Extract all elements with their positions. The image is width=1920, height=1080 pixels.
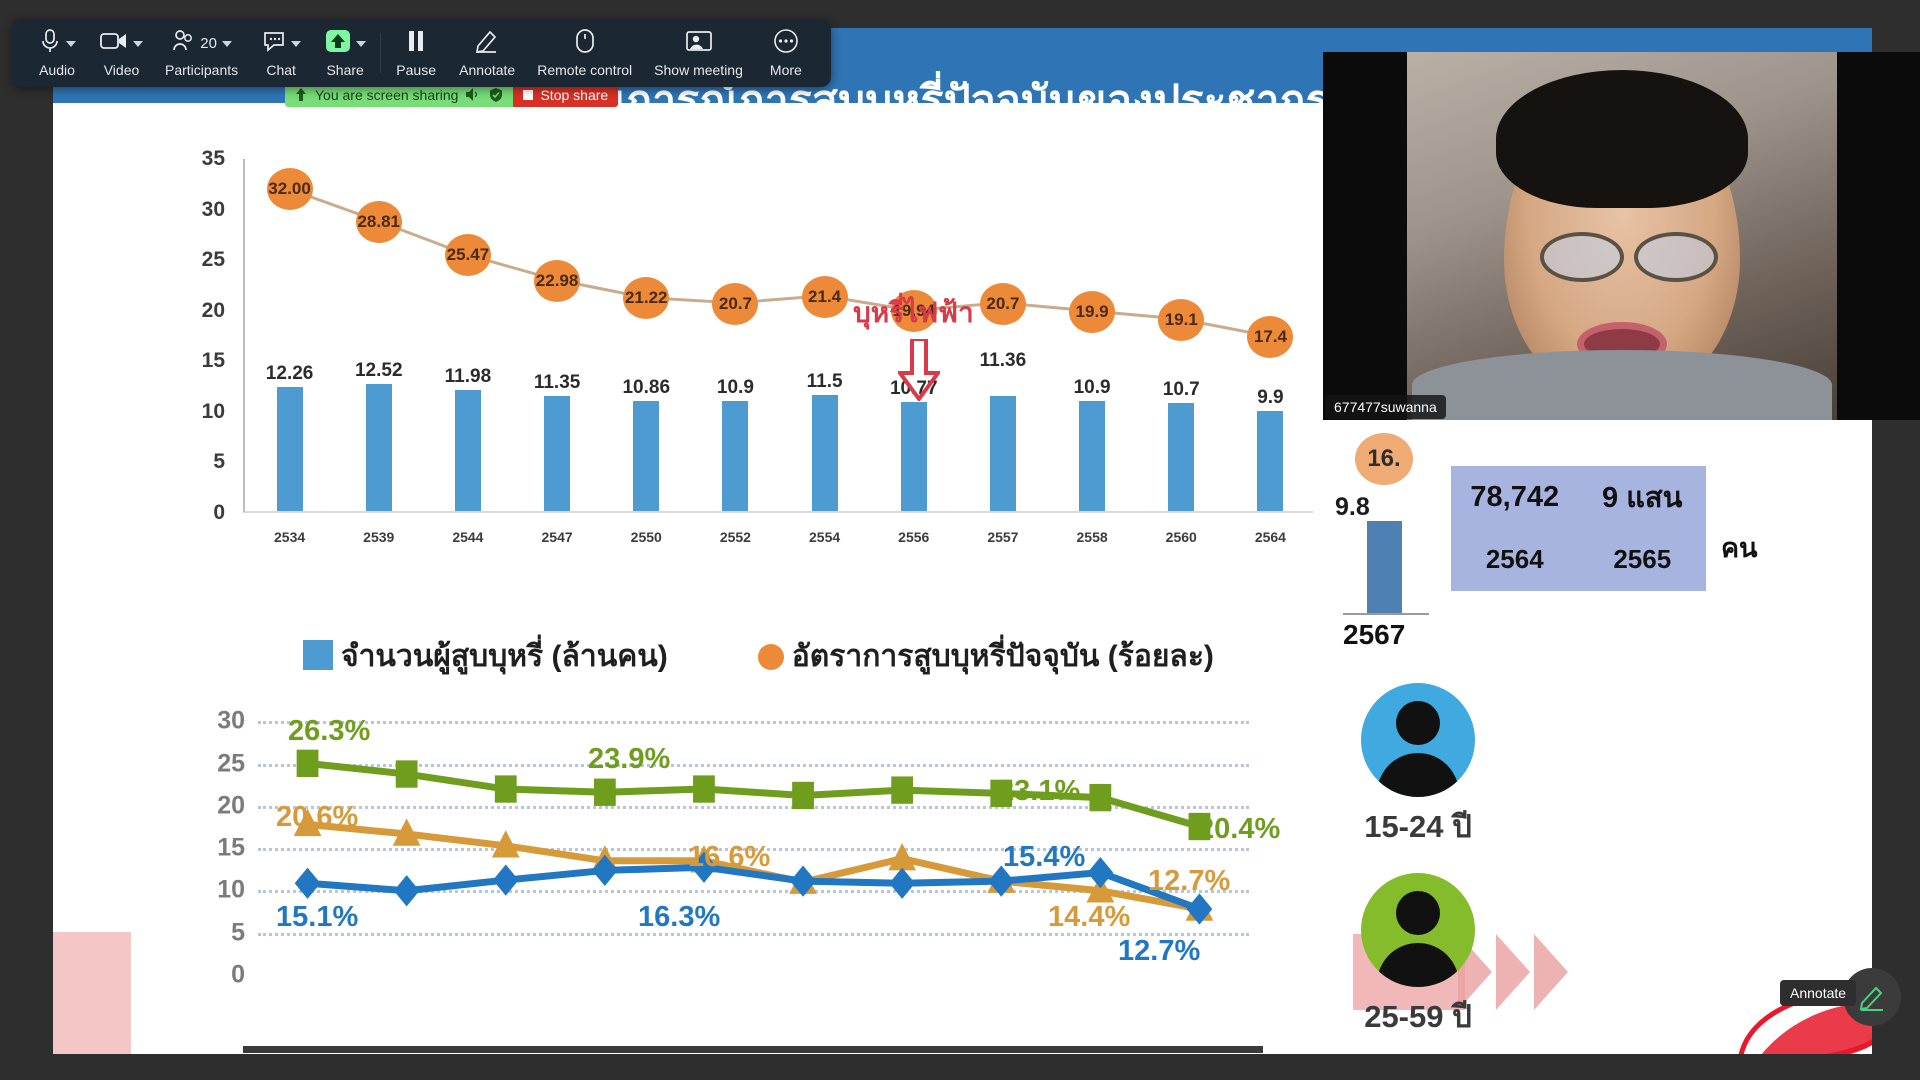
toolbar-item-label: Chat — [266, 62, 296, 78]
video-frame — [1407, 52, 1837, 420]
chat-bubble-icon — [262, 30, 286, 57]
extra-bar-label: 9.8 — [1335, 493, 1370, 522]
chart1-annotation-label: บุหรี่ไฟฟ้า — [853, 291, 974, 335]
chart1-bar-label: 11.98 — [445, 366, 492, 388]
chart1-bar — [812, 395, 838, 511]
chart1-bar-label: 10.7 — [1163, 379, 1200, 401]
chart1-y-tick: 15 — [163, 349, 225, 373]
chart1-bar — [1257, 411, 1283, 511]
sharing-status-text: You are screen sharing — [315, 87, 458, 103]
extra-year-label: 2567 — [1343, 619, 1405, 651]
age-group-label: 25-59 ปี — [1318, 991, 1518, 1041]
chart2-y-tick: 5 — [203, 918, 245, 947]
chart1-line-marker: 32.00 — [267, 168, 313, 210]
chart2-data-label: 12.7% — [1118, 935, 1200, 968]
chart1-y-tick: 5 — [163, 450, 225, 474]
chart1-bar — [901, 402, 927, 511]
shield-check-icon[interactable] — [489, 88, 503, 102]
pencil-icon — [475, 29, 499, 58]
chart1-x-tick: 2539 — [363, 529, 394, 545]
toolbar-item-label: Participants — [165, 62, 238, 78]
toolbar-item-participants[interactable]: 20Participants — [155, 29, 248, 78]
chart1-bar-label: 11.36 — [980, 350, 1027, 372]
self-view-video[interactable] — [1323, 52, 1920, 420]
pink-accent-left — [53, 932, 131, 1054]
chart2-y-tick: 10 — [203, 876, 245, 905]
chart1-x-tick: 2550 — [631, 529, 662, 545]
chart2-data-label: 12.7% — [1148, 865, 1230, 898]
chart1-x-tick: 2560 — [1166, 529, 1197, 545]
chart1-line-marker: 25.47 — [445, 234, 491, 276]
chart-age-group-trend: 051015202530 26.3%23.9%23.1%20.4%20.6%16… — [203, 703, 1263, 1054]
chart1-bar — [633, 401, 659, 511]
stop-share-label: Stop share — [540, 87, 608, 103]
stat-table: 78,742 9 แสน 2564 2565 — [1451, 466, 1706, 591]
screen-root: สถานการณ์การสูบบุหรี่ปัจจุบันของประชากรไ… — [0, 0, 1920, 1080]
chart2-y-tick: 20 — [203, 791, 245, 820]
chart1-bar-label: 11.35 — [534, 372, 581, 394]
chevron-down-icon[interactable] — [66, 41, 76, 47]
participant-name-label: 677477suwanna — [1325, 395, 1446, 419]
chart1-y-tick: 10 — [163, 400, 225, 424]
extra-rate-bubble: 16. — [1355, 433, 1413, 485]
toolbar-item-pause[interactable]: Pause — [385, 29, 447, 78]
toolbar-item-annotate[interactable]: Annotate — [449, 29, 525, 78]
down-arrow-icon — [898, 339, 940, 401]
chart1-trend-line — [245, 159, 1313, 511]
chart1-x-tick: 2557 — [987, 529, 1018, 545]
young-person-icon — [1361, 683, 1475, 797]
chart1-line-marker: 28.81 — [356, 201, 402, 243]
chart1-y-tick: 30 — [163, 198, 225, 222]
chart1-x-tick: 2556 — [898, 529, 929, 545]
chart1-bar — [1079, 401, 1105, 511]
chart1-line-marker: 21.4 — [802, 276, 848, 318]
chevron-down-icon[interactable] — [133, 41, 143, 47]
age-group-list: 15-24 ปี 25-59 ปี 60 ปีขึ้นไป — [1318, 683, 1518, 1054]
microphone-icon — [39, 29, 61, 58]
chart2-marker — [792, 782, 814, 809]
toolbar-item-label: Remote control — [537, 62, 632, 78]
chart2-y-tick: 0 — [203, 961, 245, 990]
chevron-down-icon[interactable] — [356, 41, 366, 47]
toolbar-item-label: Show meeting — [654, 62, 743, 78]
chart1-line-marker: 20.7 — [712, 283, 758, 325]
chart2-marker — [1089, 784, 1111, 811]
chart1-x-tick: 2547 — [542, 529, 573, 545]
chart1-y-tick: 35 — [163, 147, 225, 171]
chart1-line-marker: 20.7 — [980, 283, 1026, 325]
chart2-marker — [1087, 857, 1113, 888]
toolbar-divider — [380, 33, 381, 73]
ellipsis-icon — [774, 29, 798, 58]
chart1-bar — [990, 396, 1016, 511]
chart2-data-label: 15.4% — [1003, 841, 1085, 874]
toolbar-item-more[interactable]: More — [755, 29, 817, 78]
stat-year-2: 2565 — [1613, 544, 1671, 575]
chart1-bar-label: 10.9 — [1074, 377, 1111, 399]
chart2-marker — [295, 868, 321, 899]
chart1-bar-label: 10.9 — [717, 377, 754, 399]
toolbar-item-video[interactable]: Video — [90, 29, 153, 78]
toolbar-item-chat[interactable]: Chat — [250, 29, 312, 78]
toolbar-item-label: Share — [326, 62, 363, 78]
chart1-bar-label: 10.86 — [622, 377, 670, 399]
chart1-line-marker: 19.9 — [1069, 291, 1115, 333]
participant-hair — [1496, 70, 1748, 208]
chart2-marker — [889, 868, 915, 899]
chart1-bar-label: 11.5 — [807, 371, 843, 393]
toolbar-item-label: More — [770, 62, 802, 78]
chart2-data-label: 20.4% — [1198, 813, 1280, 846]
chart1-y-tick: 20 — [163, 299, 225, 323]
chart1-line-marker: 21.22 — [623, 277, 669, 319]
extra-baseline — [1343, 613, 1429, 615]
chart2-marker — [594, 779, 616, 806]
chart1-legend: จำนวนผู้สูบบุหรี่ (ล้านคน) อัตราการสูบบุ… — [303, 633, 1303, 680]
toolbar-item-remote-control[interactable]: Remote control — [527, 29, 642, 78]
glasses-left-icon — [1540, 232, 1624, 282]
chart2-marker — [396, 760, 418, 787]
chevron-down-icon[interactable] — [222, 41, 232, 47]
camera-icon — [100, 31, 128, 56]
chevron-down-icon[interactable] — [291, 41, 301, 47]
chart2-marker — [493, 864, 519, 895]
share-arrow-up-icon — [295, 88, 307, 101]
chart2-marker — [297, 750, 319, 777]
age-group-item: 15-24 ปี — [1318, 683, 1518, 851]
chart1-line-marker: 19.1 — [1158, 299, 1204, 341]
chart2-series-svg — [258, 713, 1249, 1045]
mouse-icon — [576, 29, 594, 58]
chart1-x-tick: 2552 — [720, 529, 751, 545]
chart2-marker — [394, 875, 420, 906]
age-group-item: 25-59 ปี — [1318, 873, 1518, 1041]
chart2-y-tick: 30 — [203, 707, 245, 736]
stat-value-2: 9 แสน — [1602, 474, 1682, 520]
legend-label-line: อัตราการสูบบุหรี่ปัจจุบัน (ร้อยละ) — [792, 640, 1214, 673]
pencil-underline-icon — [1858, 983, 1886, 1011]
glasses-right-icon — [1634, 232, 1718, 282]
toolbar-item-label: Pause — [396, 62, 436, 78]
chart1-x-tick: 2544 — [452, 529, 483, 545]
chart2-marker — [495, 775, 517, 802]
chart1-line-marker: 17.4 — [1247, 316, 1293, 358]
chart1-bar-label: 12.26 — [266, 363, 314, 385]
chart1-x-tick: 2558 — [1077, 529, 1108, 545]
people-icon — [171, 30, 195, 57]
chart2-marker — [888, 843, 916, 870]
pause-icon — [406, 30, 426, 57]
chart1-bar — [277, 387, 303, 511]
stat-unit-label: คน — [1721, 526, 1758, 569]
chart1-bar — [544, 396, 570, 511]
chart1-bar — [1168, 403, 1194, 511]
legend-item-bars: จำนวนผู้สูบบุหรี่ (ล้านคน) — [303, 633, 668, 680]
chart1-bar — [722, 401, 748, 511]
share-arrow-up-icon — [325, 29, 351, 58]
chart1-x-tick: 2564 — [1255, 529, 1286, 545]
chart1-bar-label: 9.9 — [1257, 387, 1283, 409]
chart2-marker — [891, 776, 913, 803]
chart1-y-tick: 25 — [163, 248, 225, 272]
toolbar-item-share[interactable]: Share — [314, 29, 376, 78]
chart1-x-tick: 2534 — [274, 529, 305, 545]
extra-bar — [1367, 521, 1402, 613]
toolbar-item-label: Audio — [39, 62, 75, 78]
chart2-data-label: 20.6% — [276, 801, 358, 834]
chart1-plot-area: 12.2612.5211.9811.3510.8610.911.510.7711… — [243, 159, 1313, 513]
stat-value-1: 78,742 — [1470, 481, 1559, 514]
chart1-line-marker: 22.98 — [534, 260, 580, 302]
chart2-marker — [693, 775, 715, 802]
toolbar-item-audio[interactable]: Audio — [26, 29, 88, 78]
stop-square-icon — [523, 90, 533, 100]
chart2-data-label: 23.9% — [588, 743, 670, 776]
chart2-plot-area: 26.3%23.9%23.1%20.4%20.6%16.6%14.4%12.7%… — [258, 713, 1249, 1045]
chart2-data-label: 23.1% — [998, 775, 1080, 808]
toolbar-item-label: Video — [104, 62, 140, 78]
legend-item-line: อัตราการสูบบุหรี่ปัจจุบัน (ร้อยละ) — [758, 633, 1214, 680]
toolbar-item-show-meeting[interactable]: Show meeting — [644, 29, 753, 78]
chart1-y-tick: 0 — [163, 501, 225, 525]
speaker-icon[interactable] — [466, 88, 481, 101]
chart2-data-label: 16.3% — [638, 901, 720, 934]
chart2-y-tick: 25 — [203, 749, 245, 778]
chart2-baseline — [243, 1046, 1263, 1053]
chart1-x-tick: 2554 — [809, 529, 840, 545]
chart2-y-tick: 15 — [203, 834, 245, 863]
toolbar-item-label: Annotate — [459, 62, 515, 78]
chart2-data-label: 16.6% — [688, 841, 770, 874]
age-group-label: 15-24 ปี — [1318, 801, 1518, 851]
meeting-toolbar: AudioVideo20ParticipantsChatSharePauseAn… — [12, 19, 831, 87]
chart-smoking-trend: 05101520253035 12.2612.5211.9811.3510.86… — [163, 141, 1333, 561]
chart1-bar — [455, 390, 481, 511]
participant-shoulders — [1412, 350, 1832, 420]
person-screen-icon — [686, 30, 712, 57]
adult-person-icon — [1361, 873, 1475, 987]
legend-square-icon — [303, 640, 333, 670]
chart2-data-label: 15.1% — [276, 901, 358, 934]
chart2-data-label: 14.4% — [1048, 901, 1130, 934]
stat-year-1: 2564 — [1486, 544, 1544, 575]
chart1-bar-label: 12.52 — [355, 360, 403, 382]
legend-label-bars: จำนวนผู้สูบบุหรี่ (ล้านคน) — [341, 640, 668, 673]
participants-count: 20 — [200, 35, 217, 52]
annotate-tooltip: Annotate — [1780, 980, 1856, 1006]
legend-circle-icon — [758, 644, 784, 670]
chart2-data-label: 26.3% — [288, 715, 370, 748]
chart1-bar — [366, 384, 392, 511]
chart1-extra-year-column: 16. 9.8 2567 — [1325, 403, 1445, 633]
